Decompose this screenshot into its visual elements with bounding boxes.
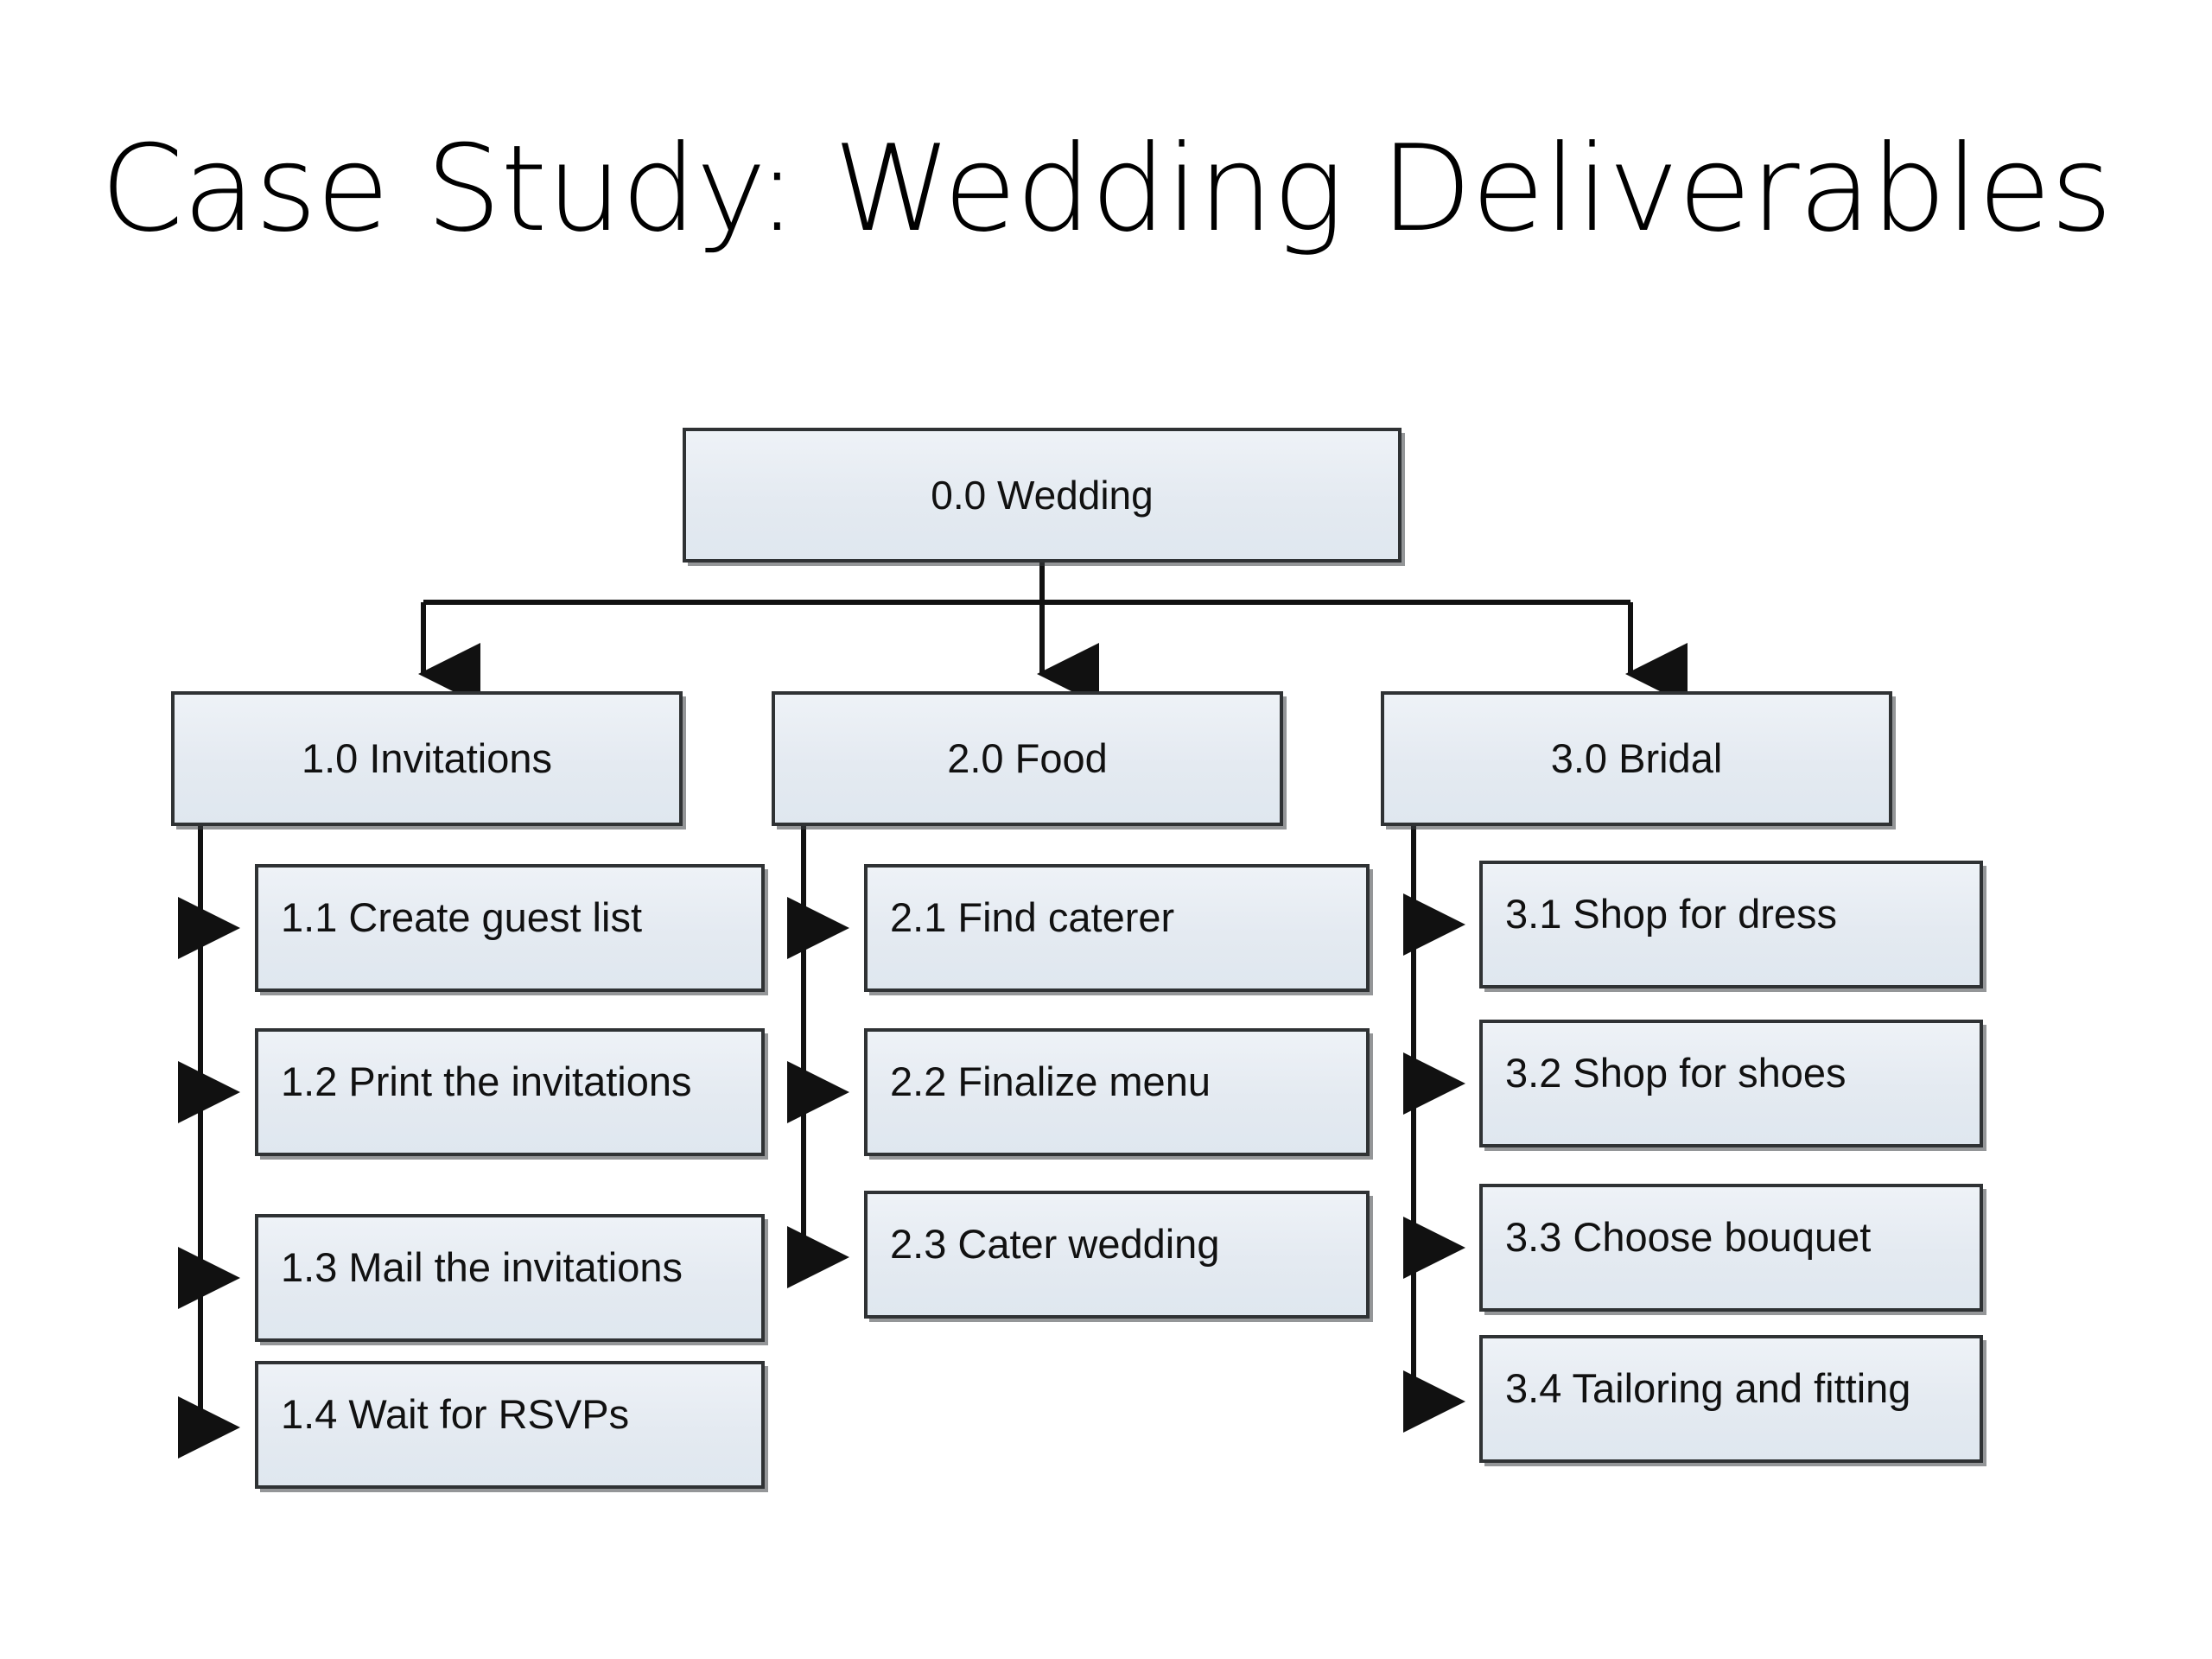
wbs-node-3-2[interactable]: 3.2 Shop for shoes [1479,1020,1983,1147]
wbs-node-2-3[interactable]: 2.3 Cater wedding [864,1191,1370,1319]
wbs-node-3-1[interactable]: 3.1 Shop for dress [1479,861,1983,988]
wbs-node-3-4[interactable]: 3.4 Tailoring and fitting [1479,1335,1983,1463]
wbs-node-3-0[interactable]: 3.0 Bridal [1381,691,1892,826]
wbs-node-3-3[interactable]: 3.3 Choose bouquet [1479,1184,1983,1312]
wbs-node-1-1[interactable]: 1.1 Create guest list [255,864,765,992]
wbs-node-1-0[interactable]: 1.0 Invitations [171,691,683,826]
wbs-node-label: 3.1 Shop for dress [1505,892,1837,937]
wbs-node-label: 2.1 Find caterer [890,895,1174,940]
wbs-node-label: 1.2 Print the invitations [281,1059,692,1104]
wbs-node-label: 2.0 Food [947,736,1108,781]
wbs-node-0-0[interactable]: 0.0 Wedding [683,428,1402,563]
wbs-node-label: 3.2 Shop for shoes [1505,1051,1847,1096]
wbs-node-label: 1.4 Wait for RSVPs [281,1392,629,1437]
wbs-node-1-4[interactable]: 1.4 Wait for RSVPs [255,1361,765,1489]
wbs-node-label: 3.0 Bridal [1551,736,1723,781]
slide-canvas: Case Study: Wedding Deliverables [0,0,2212,1659]
wbs-node-label: 1.0 Invitations [302,736,552,781]
wbs-node-label: 0.0 Wedding [931,474,1153,518]
wbs-node-label: 2.2 Finalize menu [890,1059,1211,1104]
wbs-node-1-2[interactable]: 1.2 Print the invitations [255,1028,765,1156]
wbs-node-2-0[interactable]: 2.0 Food [772,691,1283,826]
wbs-node-label: 3.3 Choose bouquet [1505,1215,1871,1260]
wbs-diagram: 0.0 Wedding 1.0 Invitations 2.0 Food 3.0… [0,0,2212,1659]
wbs-node-label: 3.4 Tailoring and fitting [1505,1366,1910,1411]
wbs-node-label: 1.1 Create guest list [281,895,642,940]
wbs-node-label: 2.3 Cater wedding [890,1222,1219,1267]
wbs-node-2-1[interactable]: 2.1 Find caterer [864,864,1370,992]
wbs-node-1-3[interactable]: 1.3 Mail the invitations [255,1214,765,1342]
wbs-node-label: 1.3 Mail the invitations [281,1245,683,1290]
wbs-node-2-2[interactable]: 2.2 Finalize menu [864,1028,1370,1156]
